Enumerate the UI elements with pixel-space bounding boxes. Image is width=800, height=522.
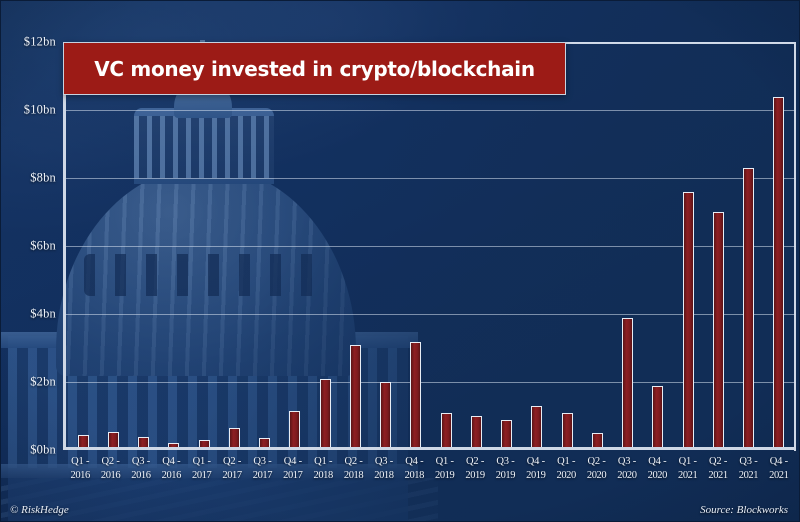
bar[interactable] — [652, 386, 663, 447]
bar-slot — [734, 42, 764, 447]
y-axis-tick-label: $8bn — [0, 171, 56, 186]
x-axis-tick-label: Q2 -2018 — [338, 455, 368, 497]
x-label-quarter: Q4 - — [642, 455, 672, 469]
x-label-quarter: Q2 - — [703, 455, 733, 469]
chart-container: $0bn$2bn$4bn$6bn$8bn$10bn$12bn Q1 -2016Q… — [0, 0, 800, 522]
bar-slot — [340, 42, 370, 447]
bar[interactable] — [138, 437, 149, 447]
bar-slot — [613, 42, 643, 447]
x-label-year: 2018 — [399, 469, 429, 483]
plot-area — [63, 42, 796, 450]
x-label-quarter: Q1 - — [308, 455, 338, 469]
x-label-year: 2018 — [308, 469, 338, 483]
bar[interactable] — [592, 433, 603, 447]
bar[interactable] — [562, 413, 573, 447]
page-title: VC money invested in crypto/blockchain — [94, 57, 535, 81]
x-label-year: 2020 — [581, 469, 611, 483]
y-axis-tick-label: $6bn — [0, 239, 56, 254]
x-axis-tick-label: Q1 -2018 — [308, 455, 338, 497]
x-label-quarter: Q2 - — [581, 455, 611, 469]
x-label-quarter: Q2 - — [460, 455, 490, 469]
x-label-year: 2019 — [430, 469, 460, 483]
x-axis-tick-label: Q1 -2021 — [673, 455, 703, 497]
bar[interactable] — [229, 428, 240, 447]
bar[interactable] — [773, 97, 784, 447]
x-label-year: 2016 — [126, 469, 156, 483]
x-label-quarter: Q1 - — [673, 455, 703, 469]
x-axis-tick-label: Q3 -2017 — [247, 455, 277, 497]
bar[interactable] — [531, 406, 542, 447]
bar[interactable] — [78, 435, 89, 447]
bar[interactable] — [199, 440, 210, 447]
x-label-quarter: Q1 - — [65, 455, 95, 469]
x-label-quarter: Q4 - — [399, 455, 429, 469]
x-label-quarter: Q3 - — [490, 455, 520, 469]
x-axis-tick-label: Q4 -2018 — [399, 455, 429, 497]
bar-slot — [522, 42, 552, 447]
x-axis-tick-label: Q3 -2018 — [369, 455, 399, 497]
x-axis-tick-label: Q3 -2019 — [490, 455, 520, 497]
bar-slot — [189, 42, 219, 447]
x-label-quarter: Q4 - — [764, 455, 794, 469]
x-label-quarter: Q4 - — [521, 455, 551, 469]
y-axis-tick-label: $2bn — [0, 375, 56, 390]
x-axis-tick-label: Q2 -2021 — [703, 455, 733, 497]
x-label-quarter: Q3 - — [126, 455, 156, 469]
bar-slot — [98, 42, 128, 447]
x-label-year: 2021 — [673, 469, 703, 483]
x-label-year: 2020 — [642, 469, 672, 483]
x-label-year: 2019 — [521, 469, 551, 483]
x-axis-tick-label: Q3 -2016 — [126, 455, 156, 497]
bar-slot — [250, 42, 280, 447]
bar[interactable] — [683, 192, 694, 447]
x-axis-tick-label: Q1 -2019 — [430, 455, 460, 497]
bar-slot — [129, 42, 159, 447]
x-label-year: 2018 — [369, 469, 399, 483]
x-axis-tick-label: Q1 -2016 — [65, 455, 95, 497]
x-label-quarter: Q3 - — [369, 455, 399, 469]
y-axis-tick-label: $10bn — [0, 103, 56, 118]
x-label-year: 2020 — [612, 469, 642, 483]
x-axis-tick-label: Q3 -2020 — [612, 455, 642, 497]
bar[interactable] — [168, 443, 179, 447]
x-axis-tick-label: Q4 -2021 — [764, 455, 794, 497]
bar[interactable] — [380, 382, 391, 447]
x-axis-labels: Q1 -2016Q2 -2016Q3 -2016Q4 -2016Q1 -2017… — [63, 455, 796, 497]
x-axis-tick-label: Q1 -2017 — [187, 455, 217, 497]
x-label-quarter: Q4 - — [278, 455, 308, 469]
x-label-quarter: Q2 - — [95, 455, 125, 469]
bar[interactable] — [441, 413, 452, 447]
x-label-year: 2017 — [187, 469, 217, 483]
bar-slot — [552, 42, 582, 447]
bar[interactable] — [259, 438, 270, 447]
bar[interactable] — [410, 342, 421, 447]
x-label-quarter: Q4 - — [156, 455, 186, 469]
bar-slot — [371, 42, 401, 447]
bar-slot — [280, 42, 310, 447]
x-axis-tick-label: Q4 -2020 — [642, 455, 672, 497]
copyright-label: © RiskHedge — [10, 504, 69, 516]
bar-slot — [159, 42, 189, 447]
x-label-quarter: Q3 - — [247, 455, 277, 469]
x-label-year: 2019 — [490, 469, 520, 483]
x-label-quarter: Q1 - — [187, 455, 217, 469]
bar-slot — [219, 42, 249, 447]
x-axis-tick-label: Q4 -2016 — [156, 455, 186, 497]
bar-slot — [703, 42, 733, 447]
x-label-year: 2021 — [733, 469, 763, 483]
bar[interactable] — [622, 318, 633, 447]
x-axis-tick-label: Q2 -2020 — [581, 455, 611, 497]
x-axis-tick-label: Q2 -2017 — [217, 455, 247, 497]
x-label-year: 2021 — [764, 469, 794, 483]
bar[interactable] — [743, 168, 754, 447]
bar-slot — [643, 42, 673, 447]
bar-slot — [310, 42, 340, 447]
x-label-year: 2016 — [156, 469, 186, 483]
bar-slot — [764, 42, 794, 447]
bar-slot — [461, 42, 491, 447]
bar[interactable] — [471, 416, 482, 447]
x-axis-tick-label: Q1 -2020 — [551, 455, 581, 497]
bar-slot — [492, 42, 522, 447]
x-label-year: 2017 — [217, 469, 247, 483]
x-label-year: 2019 — [460, 469, 490, 483]
bar-slot — [582, 42, 612, 447]
bar-series — [66, 42, 796, 447]
y-axis-tick-label: $0bn — [0, 443, 56, 458]
bar[interactable] — [501, 420, 512, 447]
bar[interactable] — [108, 432, 119, 447]
x-label-quarter: Q2 - — [338, 455, 368, 469]
x-label-quarter: Q2 - — [217, 455, 247, 469]
x-axis-tick-label: Q4 -2019 — [521, 455, 551, 497]
x-label-year: 2017 — [278, 469, 308, 483]
bar-slot — [68, 42, 98, 447]
x-axis-tick-label: Q3 -2021 — [733, 455, 763, 497]
x-label-year: 2021 — [703, 469, 733, 483]
bar[interactable] — [713, 212, 724, 447]
x-label-quarter: Q1 - — [551, 455, 581, 469]
bar[interactable] — [289, 411, 300, 447]
x-axis-tick-label: Q4 -2017 — [278, 455, 308, 497]
bar[interactable] — [350, 345, 361, 447]
x-label-year: 2016 — [65, 469, 95, 483]
bar-slot — [673, 42, 703, 447]
bar-slot — [431, 42, 461, 447]
x-axis-tick-label: Q2 -2016 — [95, 455, 125, 497]
chart-title-banner: VC money invested in crypto/blockchain — [63, 42, 566, 95]
x-label-year: 2016 — [95, 469, 125, 483]
y-axis-tick-label: $4bn — [0, 307, 56, 322]
bar-slot — [401, 42, 431, 447]
x-label-year: 2017 — [247, 469, 277, 483]
x-axis-tick-label: Q2 -2019 — [460, 455, 490, 497]
x-label-quarter: Q1 - — [430, 455, 460, 469]
bar[interactable] — [320, 379, 331, 447]
source-label: Source: Blockworks — [700, 504, 788, 516]
x-label-quarter: Q3 - — [612, 455, 642, 469]
x-label-quarter: Q3 - — [733, 455, 763, 469]
y-axis-tick-label: $12bn — [0, 35, 56, 50]
x-label-year: 2018 — [338, 469, 368, 483]
x-label-year: 2020 — [551, 469, 581, 483]
